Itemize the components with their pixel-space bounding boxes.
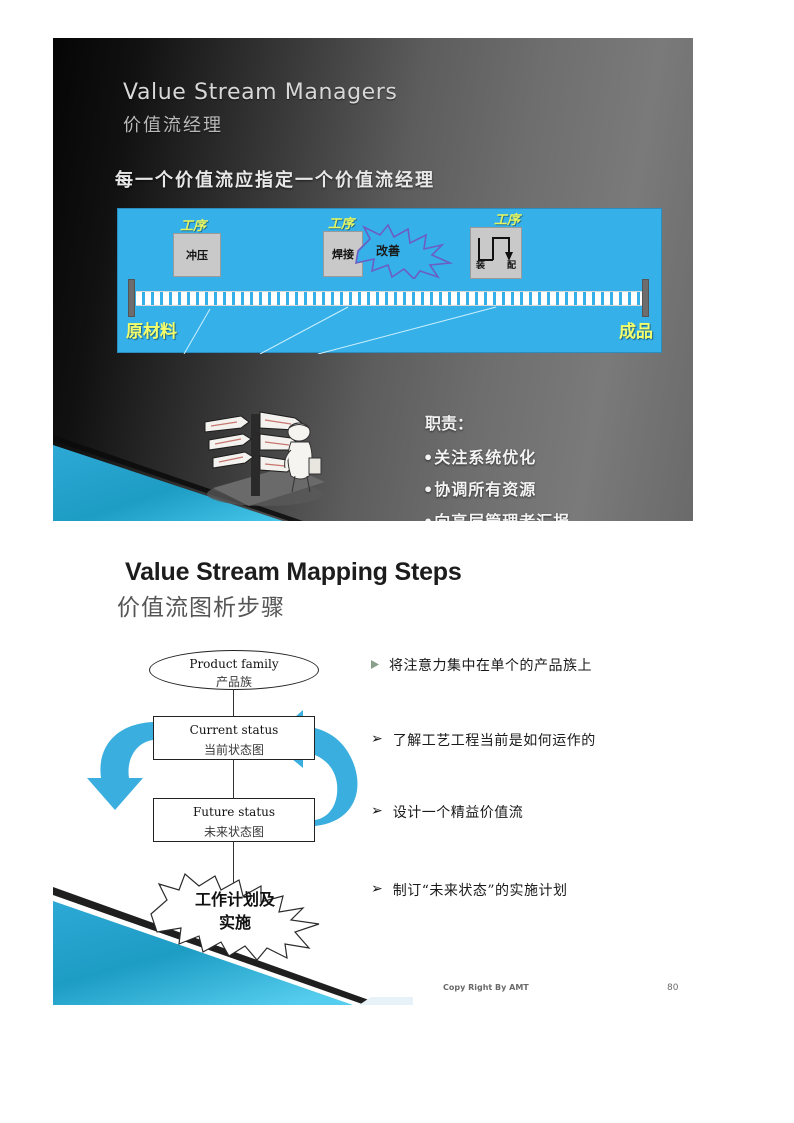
process-label-1: 工序 <box>180 215 206 234</box>
triangle-bullet-icon <box>371 660 379 669</box>
work-plan-line2: 实施 <box>145 911 325 934</box>
slide2-title-cn: 价值流图析步骤 <box>117 588 285 622</box>
process-box-assembly: 装 配 <box>470 227 522 279</box>
flow-node-product-family: Product family 产品族 <box>149 650 319 690</box>
stream-end-label: 成品 <box>619 317 653 342</box>
current-status-cn: 当前状态图 <box>154 741 314 758</box>
flow-node-future-status: Future status 未来状态图 <box>153 798 315 842</box>
timeline-sawtooth-bar <box>136 291 646 306</box>
slide-value-stream-mapping-steps: Value Stream Mapping Steps 价值流图析步骤 Produ… <box>53 540 693 1005</box>
arrow-bullet-icon-4: ➢ <box>371 882 383 896</box>
arrow-bullet-icon-3: ➢ <box>371 804 383 818</box>
future-status-cn: 未来状态图 <box>154 823 314 840</box>
kaizen-starburst-icon <box>354 223 454 279</box>
stream-start-label: 原材料 <box>126 317 177 342</box>
work-plan-label: 工作计划及 实施 <box>145 888 325 934</box>
work-plan-line1: 工作计划及 <box>145 888 325 911</box>
document-page: Value Stream Managers 价值流经理 每一个价值流应指定一个价… <box>0 0 794 1123</box>
process-label-3: 工序 <box>494 209 520 228</box>
bullet-item-3: ➢ 设计一个精益价值流 <box>371 802 523 822</box>
process-box-stamping: 冲压 <box>173 233 221 277</box>
slide1-lead-line: 每一个价值流应指定一个价值流经理 <box>115 166 435 192</box>
slide-value-stream-managers: Value Stream Managers 价值流经理 每一个价值流应指定一个价… <box>53 38 693 521</box>
timeline-cap-right <box>642 279 649 317</box>
responsibility-item-2: •协调所有资源 <box>423 476 536 500</box>
arrow-bullet-icon-2: ➢ <box>371 732 383 746</box>
slide2-title-en: Value Stream Mapping Steps <box>125 558 462 587</box>
bullet-item-4: ➢ 制订“未来状态”的实施计划 <box>371 880 568 900</box>
bullet-text-1: 将注意力集中在单个的产品族上 <box>389 655 592 675</box>
assembly-label-char1: 装 <box>476 258 485 271</box>
assembly-label-char2: 配 <box>507 258 516 271</box>
bullet-item-2: ➢ 了解工艺工程当前是如何运作的 <box>371 730 596 750</box>
bullet-text-2: 了解工艺工程当前是如何运作的 <box>393 730 596 750</box>
future-status-en: Future status <box>154 805 314 819</box>
process-label-2: 工序 <box>328 213 354 232</box>
responsibilities-heading: 职责： <box>425 410 473 434</box>
timeline-cap-left <box>128 279 135 317</box>
responsibility-item-3: •向高层管理者汇报 <box>423 508 570 521</box>
slide2-footer-page-number: 80 <box>667 983 678 993</box>
bullet-text-4: 制订“未来状态”的实施计划 <box>393 880 568 900</box>
flow-node-current-status: Current status 当前状态图 <box>153 716 315 760</box>
signpost-manager-illustration <box>203 406 333 521</box>
kaizen-burst-label: 改善 <box>376 242 400 259</box>
slide1-title-en: Value Stream Managers <box>123 80 398 105</box>
product-family-cn: 产品族 <box>150 673 318 690</box>
slide2-footer-copyright: Copy Right By AMT <box>443 983 529 992</box>
product-family-en: Product family <box>150 657 318 671</box>
bullet-item-1: 将注意力集中在单个的产品族上 <box>371 655 592 675</box>
bullet-text-3: 设计一个精益价值流 <box>393 802 524 822</box>
responsibility-item-1: •关注系统优化 <box>423 444 536 468</box>
illustration-caption: 价值流经理 <box>249 520 294 521</box>
value-stream-panel: 工序 冲压 工序 焊接 工序 装 配 改善 原材料 成品 <box>117 208 662 353</box>
current-status-en: Current status <box>154 723 314 737</box>
slide1-title-cn: 价值流经理 <box>123 111 223 137</box>
